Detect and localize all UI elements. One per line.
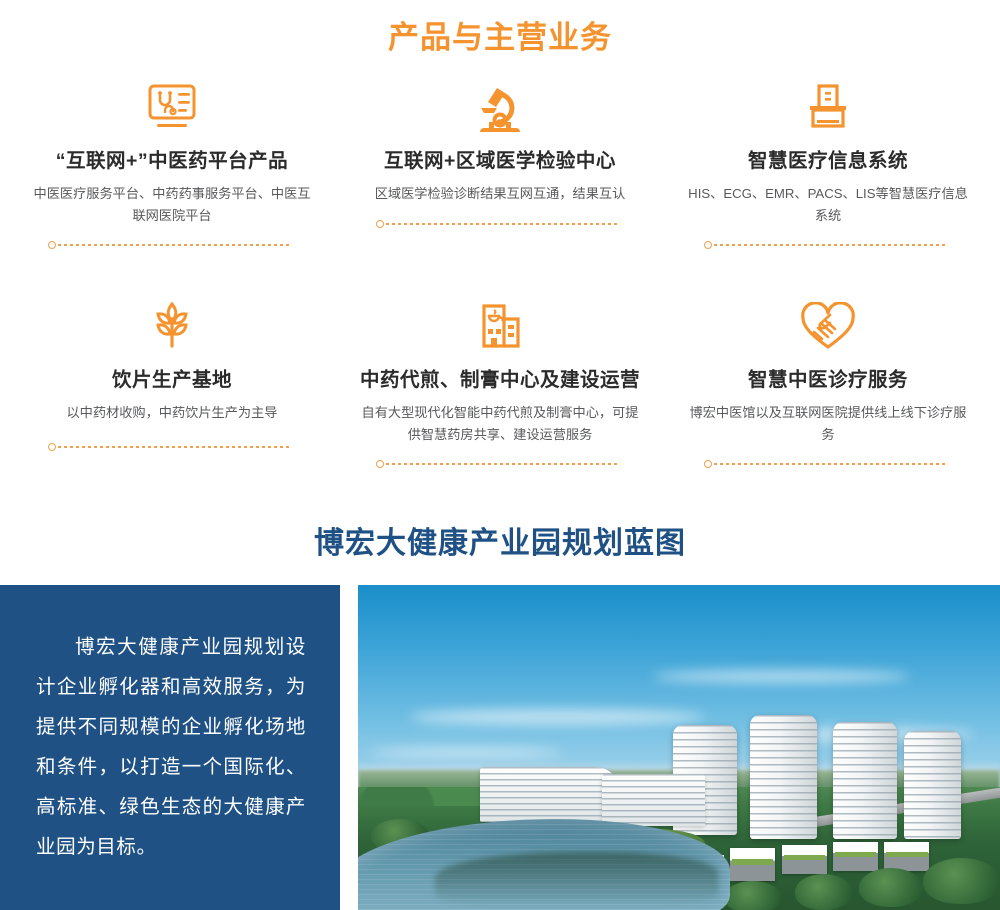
card-divider [52, 244, 292, 246]
tree-clump [923, 858, 1000, 904]
factory-teapot-icon [358, 298, 642, 356]
product-card-title: 智慧医疗信息系统 [686, 149, 970, 174]
podium-building [602, 774, 705, 826]
card-divider [708, 463, 948, 465]
product-cards-row-1: “互联网+”中医药平台产品 中医医疗服务平台、中药药事服务平台、中医互联网医院平… [0, 79, 1000, 246]
water-reflection [435, 852, 717, 904]
tower-building [833, 722, 897, 839]
tower-building [750, 715, 817, 839]
product-card-herb-base[interactable]: 饮片生产基地 以中药材收购，中药饮片生产为主导 [8, 298, 336, 465]
card-divider [708, 244, 948, 246]
blueprint-content: 博宏大健康产业园规划设计企业孵化器和高效服务，为提供不同规模的企业孵化场地和条件… [0, 585, 1000, 910]
product-card-desc: 中医医疗服务平台、中药药事服务平台、中医互联网医院平台 [30, 183, 314, 226]
card-divider [380, 463, 620, 465]
tree-clump [724, 881, 782, 910]
blueprint-section-title: 博宏大健康产业园规划蓝图 [0, 465, 1000, 562]
microscope-icon [358, 79, 642, 137]
villa-building [782, 845, 827, 874]
hospital-building-icon [686, 79, 970, 137]
product-card-title: 互联网+区域医学检验中心 [358, 149, 642, 174]
villa-building [730, 848, 775, 881]
product-card-hospital-info-system[interactable]: 智慧医疗信息系统 HIS、ECG、EMR、PACS、LIS等智慧医疗信息系统 [664, 79, 992, 246]
products-section-title: 产品与主营业务 [0, 0, 1000, 53]
cloud-shape [653, 670, 910, 683]
product-card-title: 智慧中医诊疗服务 [686, 368, 970, 393]
heart-handshake-icon [686, 298, 970, 356]
tree-clump [795, 874, 853, 910]
podium-building [480, 767, 621, 822]
monitor-stethoscope-icon [30, 79, 314, 137]
product-card-desc: 自有大型现代化智能中药代煎及制膏中心，可提供智慧药房共享、建设运营服务 [358, 402, 642, 445]
product-card-tcm-diagnosis-service[interactable]: 智慧中医诊疗服务 博宏中医馆以及互联网医院提供线上线下诊疗服务 [664, 298, 992, 465]
product-card-internet-tcm-platform[interactable]: “互联网+”中医药平台产品 中医医疗服务平台、中药药事服务平台、中医互联网医院平… [8, 79, 336, 246]
card-divider [380, 223, 620, 225]
villa-building [884, 842, 929, 871]
product-card-lab-center[interactable]: 互联网+区域医学检验中心 区域医学检验诊断结果互网互通，结果互认 [336, 79, 664, 246]
product-card-decoction-center[interactable]: 中药代煎、制膏中心及建设运营 自有大型现代化智能中药代煎及制膏中心，可提供智慧药… [336, 298, 664, 465]
product-card-desc: 博宏中医馆以及互联网医院提供线上线下诊疗服务 [686, 402, 970, 445]
product-card-desc: HIS、ECG、EMR、PACS、LIS等智慧医疗信息系统 [686, 183, 970, 226]
tree-clump [859, 868, 923, 907]
wheat-leaf-icon [30, 298, 314, 356]
blueprint-description-text: 博宏大健康产业园规划设计企业孵化器和高效服务，为提供不同规模的企业孵化场地和条件… [0, 628, 340, 868]
product-card-desc: 区域医学检验诊断结果互网互通，结果互认 [358, 183, 642, 204]
product-cards-row-2: 饮片生产基地 以中药材收购，中药饮片生产为主导 中药代煎、制膏中心及建 [0, 298, 1000, 465]
villa-building [833, 842, 878, 871]
product-card-desc: 以中药材收购，中药饮片生产为主导 [30, 402, 314, 423]
product-card-title: 饮片生产基地 [30, 368, 314, 393]
tower-building [904, 731, 962, 838]
park-rendering-image [358, 585, 1000, 910]
card-divider [52, 446, 292, 448]
cloud-shape [409, 709, 704, 725]
product-card-title: “互联网+”中医药平台产品 [30, 149, 314, 174]
product-card-title: 中药代煎、制膏中心及建设运营 [358, 368, 642, 393]
blueprint-description-panel: 博宏大健康产业园规划设计企业孵化器和高效服务，为提供不同规模的企业孵化场地和条件… [0, 585, 340, 910]
